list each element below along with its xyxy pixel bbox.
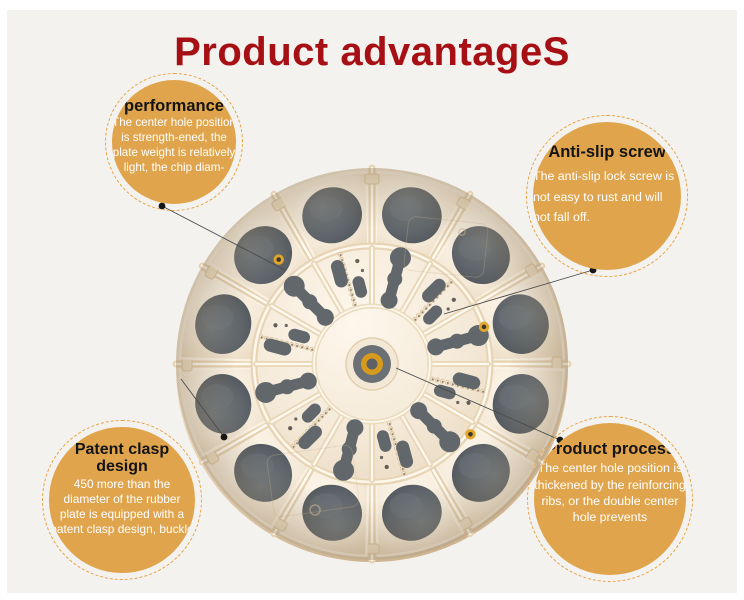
callout-body-anti-slip-screw: Anti-slip screw The anti-slip lock screw… [533,122,681,270]
infographic-stage: Product advantageS [0,0,744,600]
callout-heading: performance [112,98,236,115]
callout-product-process[interactable]: Product process The center hole position… [534,423,686,575]
callout-patent-clasp-design[interactable]: Patent clasp design 450 more than the di… [49,427,195,573]
infographic-canvas: Product advantageS [7,10,737,593]
callout-anti-slip-screw[interactable]: Anti-slip screw The anti-slip lock screw… [533,122,681,270]
product-image [170,162,574,566]
callout-heading: Patent clasp design [49,442,195,476]
callout-heading: Anti-slip screw [533,144,681,161]
callout-performance[interactable]: performance The center hole position is … [112,80,236,204]
callout-body-patent-clasp-design: Patent clasp design 450 more than the di… [49,427,195,573]
callout-text: The anti-slip lock screw is not easy to … [533,166,681,226]
callout-text: The center hole position is strength-ene… [112,116,236,175]
callout-text: 450 more than the diameter of the rubber… [49,477,195,537]
callout-body-performance: performance The center hole position is … [112,80,236,204]
page-title: Product advantageS [7,32,737,72]
callout-body-product-process: Product process The center hole position… [534,423,686,575]
callout-text: The center hole position is thickened by… [534,460,686,525]
